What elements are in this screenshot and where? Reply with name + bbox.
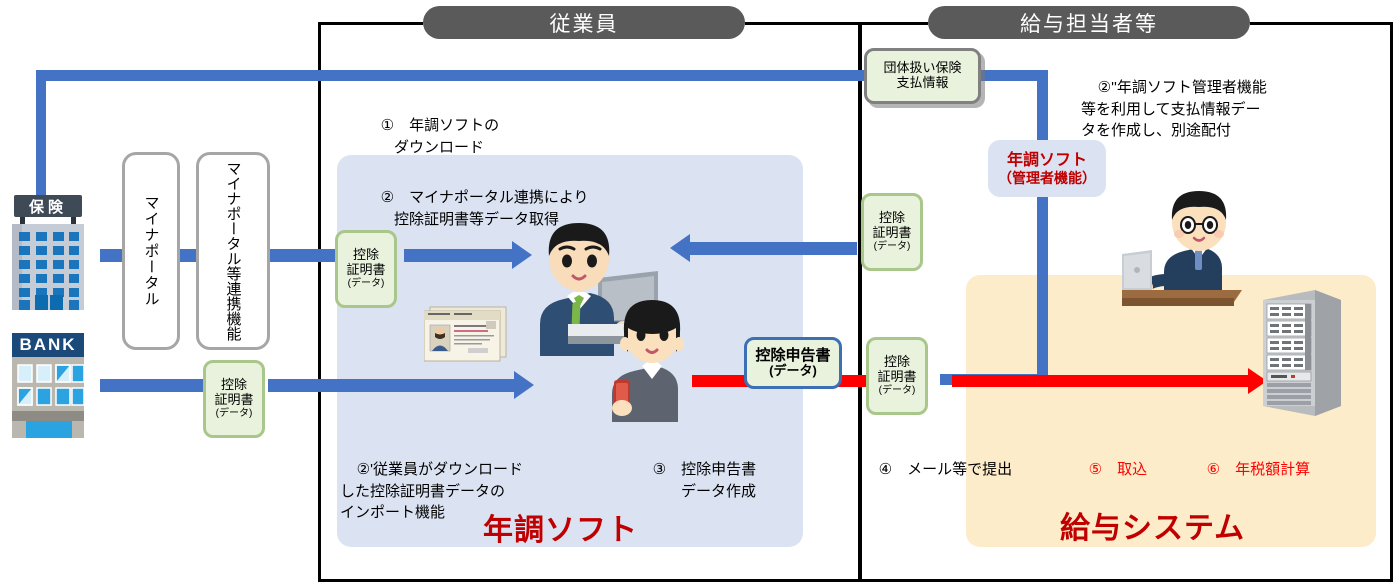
group-insurance-line2: 支払情報 [896, 76, 948, 91]
payroll-person-desk-illustration [1122, 186, 1277, 316]
deduction-cert-mid-line2: 証明書 [346, 263, 385, 278]
deduction-application-sub: (データ) [769, 364, 817, 379]
panel-title-kyuyo-system: 給与システム [1060, 503, 1245, 547]
connector-bank-row [100, 379, 210, 392]
insurance-sign-label: 保険 [29, 196, 67, 217]
deduction-cert-payroll-sub: (データ) [874, 241, 911, 253]
box-deduction-cert-payroll: 控除 証明書 (データ) [861, 193, 923, 271]
arrow-payroll-cert-to-employee [670, 234, 690, 262]
connector-bank-to-center [268, 379, 516, 392]
admin-tag-line2: （管理者機能） [998, 170, 1096, 187]
deduction-cert-left-line2: 証明書 [214, 393, 253, 408]
box-deduction-cert-right: 控除 証明書 (データ) [866, 337, 928, 415]
frame-payroll-top-left [858, 22, 928, 25]
connector-admin-down [1037, 70, 1048, 385]
step-3-label: ③ 控除申告書 データ作成 [636, 461, 756, 500]
bank-sign-label: BANK [19, 335, 76, 355]
server-rack-illustration [1257, 286, 1347, 416]
myna-portal-label: マイナポータル [141, 195, 162, 307]
connector-myna-row-5 [262, 249, 338, 262]
bank-building-sign: BANK [6, 333, 90, 357]
kyuyo-system-title-label: 給与システム [1060, 512, 1245, 545]
deduction-cert-left-sub: (データ) [216, 408, 253, 420]
step-5-label: ⑤ 取込 [1089, 461, 1147, 478]
box-myna-portal-link: マイナポータル等連携機能 [196, 152, 270, 350]
box-myna-portal: マイナポータル [122, 152, 180, 350]
box-deduction-application: 控除申告書 (データ) [744, 337, 842, 389]
deduction-cert-left-line1: 控除 [221, 378, 247, 393]
myna-portal-link-label: マイナポータル等連携機能 [223, 161, 244, 341]
frame-right-vertical [1390, 22, 1393, 582]
step-4-text: ④ メール等で提出 [862, 437, 1012, 502]
banner-payroll: 給与担当者等 [928, 6, 1250, 39]
panel-title-nenchou-soft: 年調ソフト [483, 505, 638, 549]
box-deduction-cert-left: 控除 証明書 (データ) [203, 360, 265, 438]
my-number-card-illustration [424, 305, 508, 363]
frame-employee-top-left [318, 22, 423, 25]
deduction-cert-payroll-line2: 証明書 [872, 226, 911, 241]
step-2-ddash-label: ②''年調ソフト管理者機能 等を利用して支払情報デー タを作成し、別途配付 [1081, 79, 1267, 140]
arrow-bank-to-center [514, 371, 534, 399]
step-1-label: ① 年調ソフトの ダウンロード [364, 117, 499, 156]
deduction-cert-right-line2: 証明書 [877, 370, 916, 385]
step-4-label: ④ メール等で提出 [879, 461, 1012, 478]
frame-payroll-top-right [1250, 22, 1393, 25]
deduction-application-line1: 控除申告書 [755, 347, 830, 364]
nenchou-soft-title-label: 年調ソフト [483, 514, 638, 547]
step-3-text: ③ 控除申告書 データ作成 [636, 437, 756, 524]
step-2-ddash-text: ②''年調ソフト管理者機能 等を利用して支払情報デー タを作成し、別途配付 [1081, 55, 1267, 164]
insurance-building-sign: 保険 [6, 195, 90, 217]
frame-employee-top-right [745, 22, 860, 25]
banner-employee-label: 従業員 [550, 8, 619, 38]
frame-left-vertical [318, 22, 321, 582]
employee-woman-phone-illustration [598, 292, 710, 422]
deduction-cert-right-sub: (データ) [879, 385, 916, 397]
step-6-label: ⑥ 年税額計算 [1207, 461, 1310, 478]
connector-payroll-cert-to-employee [690, 242, 857, 255]
deduction-cert-right-line1: 控除 [884, 355, 910, 370]
banner-payroll-label: 給与担当者等 [1020, 8, 1158, 38]
banner-employee: 従業員 [423, 6, 745, 39]
diagram-canvas: 従業員 給与担当者等 [0, 0, 1395, 586]
frame-bottom [318, 579, 1393, 582]
box-group-insurance-payment: 団体扱い保険 支払情報 [864, 48, 981, 104]
connector-insurance-vertical [36, 70, 46, 215]
deduction-cert-mid-sub: (データ) [348, 278, 385, 290]
deduction-cert-payroll-line1: 控除 [879, 211, 905, 226]
admin-tag-line1: 年調ソフト [1007, 151, 1087, 170]
connector-red-3 [952, 375, 1252, 387]
step-5-text: ⑤ 取込 [1072, 437, 1147, 502]
step-6-text: ⑥ 年税額計算 [1190, 437, 1310, 502]
group-insurance-line1: 団体扱い保険 [883, 61, 961, 76]
